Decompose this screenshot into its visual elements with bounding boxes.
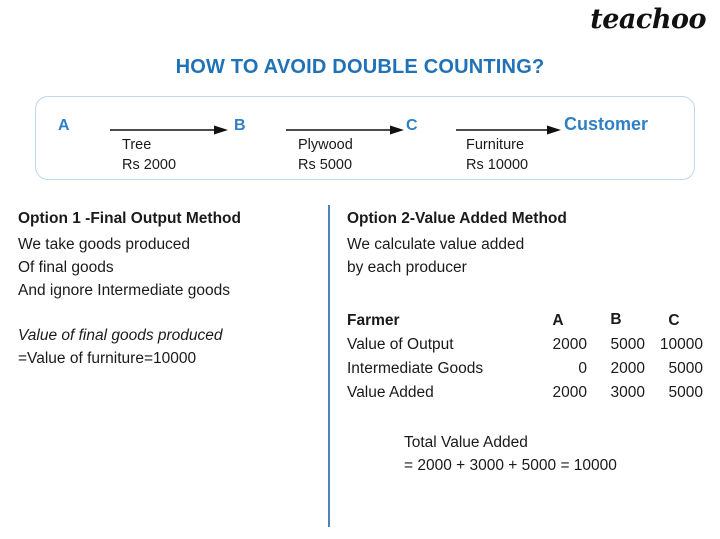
page-title: HOW TO AVOID DOUBLE COUNTING? xyxy=(0,56,720,79)
table-row: Value of Output 2000 5000 10000 xyxy=(347,333,703,357)
flow-product-1: Tree xyxy=(122,137,151,153)
table-col-header-a: A xyxy=(529,309,587,333)
table-cell-value: 2000 xyxy=(529,333,587,357)
table-cell-value: 5000 xyxy=(645,381,703,405)
table-header-row: Farmer A B C xyxy=(347,309,703,333)
flow-product-2: Plywood xyxy=(298,137,353,153)
table-row-label: Intermediate Goods xyxy=(347,357,529,381)
flow-price-1: Rs 2000 xyxy=(122,157,176,173)
table-row-label: Value of Output xyxy=(347,333,529,357)
arrow-right-icon xyxy=(456,125,561,135)
teachoo-logo: teachoo xyxy=(590,4,706,35)
arrow-right-icon xyxy=(286,125,404,135)
flow-product-3: Furniture xyxy=(466,137,524,153)
table-cell-value: 2000 xyxy=(529,381,587,405)
table-col-header-b: B xyxy=(587,309,645,333)
table-corner-header: Farmer xyxy=(347,309,529,333)
table-row: Value Added 2000 3000 5000 xyxy=(347,381,703,405)
option-1-emphasis-line: Value of final goods produced xyxy=(18,324,318,347)
flow-price-3: Rs 10000 xyxy=(466,157,528,173)
flow-node-b: B xyxy=(234,117,246,135)
option-2-line-1: We calculate value added xyxy=(347,233,703,256)
option-2-section: Option 2-Value Added Method We calculate… xyxy=(347,210,703,477)
total-value-added-label: Total Value Added xyxy=(404,431,703,454)
column-divider xyxy=(328,205,330,527)
table-cell-value: 10000 xyxy=(645,333,703,357)
table-cell-value: 3000 xyxy=(587,381,645,405)
option-2-heading: Option 2-Value Added Method xyxy=(347,210,703,228)
table-cell-value: 0 xyxy=(529,357,587,381)
total-value-added-block: Total Value Added = 2000 + 3000 + 5000 =… xyxy=(404,431,703,477)
flow-caption-plywood: Plywood Rs 5000 xyxy=(298,137,353,173)
flow-node-a: A xyxy=(58,117,70,135)
table-row-label: Value Added xyxy=(347,381,529,405)
production-chain-box: A B C Customer Tree Rs 2000 Plywood Rs 5… xyxy=(35,96,695,180)
flow-caption-tree: Tree Rs 2000 xyxy=(122,137,176,173)
value-added-table: Farmer A B C Value of Output 2000 5000 1… xyxy=(347,309,703,405)
flow-node-customer: Customer xyxy=(564,114,648,135)
table-cell-value: 5000 xyxy=(587,333,645,357)
option-1-line-2: Of final goods xyxy=(18,256,318,279)
option-1-heading: Option 1 -Final Output Method xyxy=(18,210,318,228)
option-1-result-line: =Value of furniture=10000 xyxy=(18,347,318,370)
table-cell-value: 5000 xyxy=(645,357,703,381)
flow-price-2: Rs 5000 xyxy=(298,157,353,173)
arrow-right-icon xyxy=(110,125,228,135)
table-col-header-c: C xyxy=(645,309,703,333)
option-1-section: Option 1 -Final Output Method We take go… xyxy=(18,210,318,370)
table-row: Intermediate Goods 0 2000 5000 xyxy=(347,357,703,381)
option-2-line-2: by each producer xyxy=(347,256,703,279)
option-1-line-1: We take goods produced xyxy=(18,233,318,256)
option-1-line-3: And ignore Intermediate goods xyxy=(18,279,318,302)
total-value-added-equation: = 2000 + 3000 + 5000 = 10000 xyxy=(404,454,703,477)
option-1-result-block: Value of final goods produced =Value of … xyxy=(18,324,318,370)
flow-caption-furniture: Furniture Rs 10000 xyxy=(466,137,528,173)
table-cell-value: 2000 xyxy=(587,357,645,381)
flow-node-c: C xyxy=(406,117,418,135)
